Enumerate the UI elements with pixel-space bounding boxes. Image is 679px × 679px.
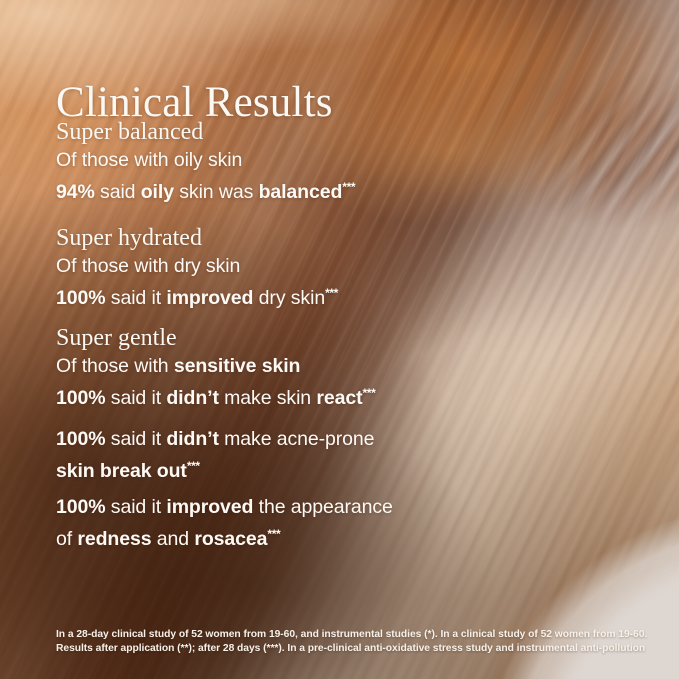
emphasis-text: didn’t <box>166 428 218 450</box>
emphasis-text: react <box>316 387 362 409</box>
emphasis-text: improved <box>166 287 253 309</box>
section-super-hydrated: Super hydrated Of those with dry skin 10… <box>56 224 338 312</box>
stat-line: 100% said it improved the appearance <box>56 494 393 521</box>
emphasis-text: oily <box>141 181 174 203</box>
plain-text: make acne-prone <box>219 428 375 450</box>
stat-line: Of those with dry skin <box>56 253 338 280</box>
section-heading: Super hydrated <box>56 224 338 252</box>
plain-text: said it <box>105 287 166 309</box>
plain-text: Of those with <box>56 355 174 377</box>
emphasis-text: 100% <box>56 287 105 309</box>
section-super-gentle: Super gentle Of those with sensitive ski… <box>56 324 375 412</box>
emphasis-text: sensitive skin <box>174 355 301 377</box>
stat-line: 100% said it didn’t make skin react*** <box>56 380 375 412</box>
stat-line: Of those with oily skin <box>56 147 355 174</box>
footnote-line: In a 28-day clinical study of 52 women f… <box>56 628 646 642</box>
emphasis-text: rosacea <box>194 528 267 550</box>
plain-text: of <box>56 528 77 550</box>
stat-line: of redness and rosacea*** <box>56 521 393 553</box>
paragraph-acne-prone: 100% said it didn’t make acne-prone skin… <box>56 426 374 485</box>
stat-line: 100% said it didn’t make acne-prone <box>56 426 374 453</box>
plain-text: said it <box>105 428 166 450</box>
footnote-marker: *** <box>342 180 355 194</box>
footnote-marker: *** <box>325 286 338 300</box>
stat-line: 100% said it improved dry skin*** <box>56 280 338 312</box>
stat-line: skin break out*** <box>56 453 374 485</box>
plain-text: the appearance <box>253 496 392 518</box>
footnote-marker: *** <box>267 527 280 541</box>
plain-text: said <box>95 181 141 203</box>
content-area: Clinical Results Super balanced Of those… <box>0 0 679 679</box>
paragraph-redness-rosacea: 100% said it improved the appearance of … <box>56 494 393 553</box>
footnote-disclaimer: In a 28-day clinical study of 52 women f… <box>56 628 646 655</box>
footnote-marker: *** <box>362 386 375 400</box>
section-heading: Super balanced <box>56 118 355 146</box>
clinical-results-card: Clinical Results Super balanced Of those… <box>0 0 679 679</box>
emphasis-text: skin break out <box>56 460 187 482</box>
section-super-balanced: Super balanced Of those with oily skin 9… <box>56 118 355 206</box>
stat-line: 94% said oily skin was balanced*** <box>56 174 355 206</box>
section-heading: Super gentle <box>56 324 375 352</box>
plain-text: Of those with dry skin <box>56 255 240 277</box>
emphasis-text: 100% <box>56 387 105 409</box>
emphasis-text: 94% <box>56 181 95 203</box>
plain-text: make skin <box>219 387 317 409</box>
emphasis-text: improved <box>166 496 253 518</box>
emphasis-text: balanced <box>259 181 343 203</box>
emphasis-text: redness <box>77 528 151 550</box>
footnote-line: Results after application (**); after 28… <box>56 642 646 656</box>
plain-text: Of those with oily skin <box>56 149 242 171</box>
plain-text: dry skin <box>253 287 325 309</box>
plain-text: said it <box>105 387 166 409</box>
emphasis-text: 100% <box>56 496 105 518</box>
emphasis-text: didn’t <box>166 387 218 409</box>
plain-text: said it <box>105 496 166 518</box>
footnote-marker: *** <box>187 459 200 473</box>
stat-line: Of those with sensitive skin <box>56 353 375 380</box>
emphasis-text: 100% <box>56 428 105 450</box>
plain-text: and <box>151 528 194 550</box>
plain-text: skin was <box>174 181 259 203</box>
